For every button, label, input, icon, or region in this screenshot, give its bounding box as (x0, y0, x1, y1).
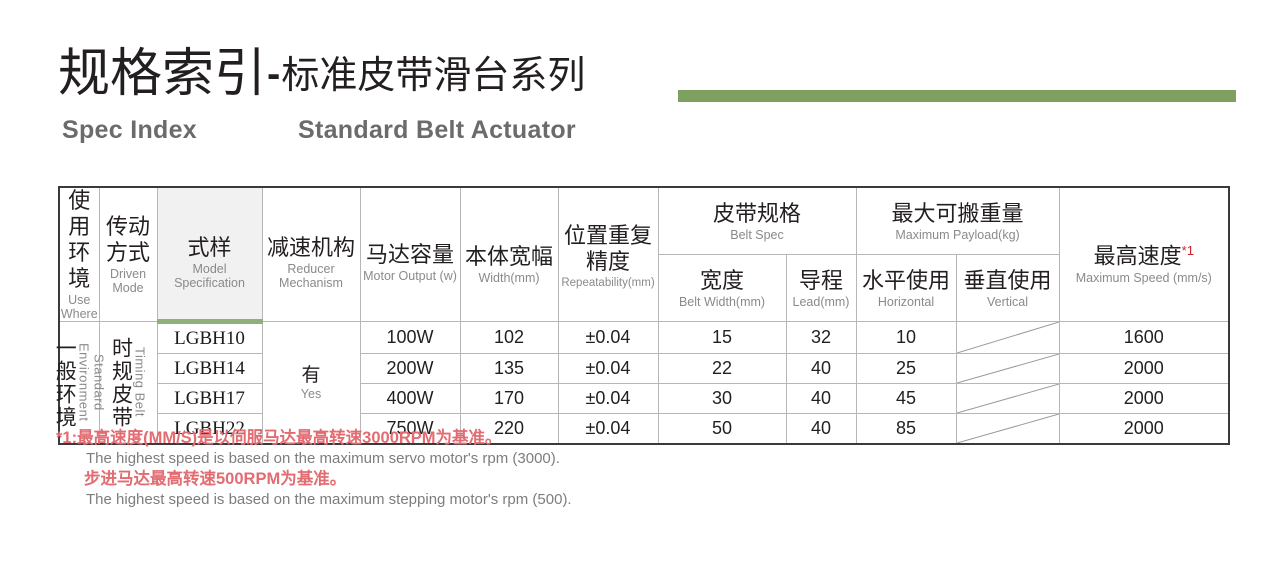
cell-width: 135 (460, 354, 558, 384)
subtitle-row: Spec Index Standard Belt Actuator (58, 116, 1238, 148)
header-belt-width-en: Belt Width(mm) (659, 295, 786, 309)
cell-horizontal: 45 (856, 384, 956, 414)
header-use-where-cn: 使用环境 (60, 188, 99, 292)
cell-max-speed: 2000 (1059, 354, 1229, 384)
spec-table: 使用环境 Use Where 传动方式 Driven Mode 式样 Model… (58, 186, 1230, 445)
header-reducer: 减速机构 Reducer Mechanism (262, 187, 360, 322)
header-repeatability: 位置重复精度 Repeatability(mm) (558, 187, 658, 322)
cell-lead: 32 (786, 322, 856, 354)
cell-model[interactable]: LGBH14 (157, 354, 262, 384)
header-belt-spec-en: Belt Spec (659, 228, 856, 242)
title-separator-dash: - (266, 46, 281, 102)
header-max-payload-group: 最大可搬重量 Maximum Payload(kg) (856, 187, 1059, 255)
header-belt-spec-cn: 皮带规格 (659, 201, 856, 227)
header-repeatability-cn: 位置重复精度 (559, 223, 658, 275)
reducer-value-cn: 有 (263, 365, 360, 387)
header-width: 本体宽幅 Width(mm) (460, 187, 558, 322)
cell-driven-mode-value: 时规皮带 Timing Belt (99, 322, 157, 445)
cell-vertical-not-applicable (956, 384, 1059, 414)
table-row: LGBH17 400W 170 ±0.04 30 40 45 2000 (59, 384, 1229, 414)
env-label-en: Standard Environment (76, 331, 106, 435)
reducer-value-en: Yes (263, 387, 360, 401)
page-subtitle-cn: 标准皮带滑台系列 (281, 50, 585, 102)
header-reducer-cn: 减速机构 (263, 235, 360, 261)
table-row: 一般环境 Standard Environment 时规皮带 Timing Be… (59, 322, 1229, 354)
header-max-payload-cn: 最大可搬重量 (857, 201, 1059, 227)
cell-lead: 40 (786, 384, 856, 414)
diagonal-slash-icon (957, 354, 1059, 383)
page-title-cn: 规格索引 (58, 46, 266, 102)
diagonal-slash-icon (957, 384, 1059, 413)
cell-lead: 40 (786, 354, 856, 384)
cell-reducer-value: 有 Yes (262, 322, 360, 445)
header-driven-mode-en: Driven Mode (100, 267, 157, 295)
header-driven-mode-cn: 传动方式 (100, 214, 157, 266)
header-max-speed-note: *1 (1182, 243, 1194, 258)
diagonal-slash-icon (957, 322, 1059, 353)
cell-repeatability: ±0.04 (558, 354, 658, 384)
header-belt-width-cn: 宽度 (659, 268, 786, 294)
page-subtitle-en: Standard Belt Actuator (298, 116, 576, 145)
header-model-spec-en: Model Specification (158, 262, 262, 290)
cell-max-speed: 2000 (1059, 384, 1229, 414)
cell-max-speed: 1600 (1059, 322, 1229, 354)
page-title-en: Spec Index (62, 116, 197, 145)
footnotes: *1:最高速度(MM/S)是以伺服马达最高转速3000RPM为基准。 The h… (56, 428, 956, 510)
header-motor-output-en: Motor Output (w) (361, 269, 460, 283)
cell-max-speed: 2000 (1059, 414, 1229, 445)
header-lead: 导程 Lead(mm) (786, 255, 856, 322)
cell-vertical-not-applicable (956, 322, 1059, 354)
cell-width: 170 (460, 384, 558, 414)
header-belt-spec-group: 皮带规格 Belt Spec (658, 187, 856, 255)
cell-horizontal: 25 (856, 354, 956, 384)
footnote-1-en: The highest speed is based on the maximu… (56, 449, 956, 469)
cell-width: 102 (460, 322, 558, 354)
header-use-where-en: Use Where (60, 293, 99, 321)
header-horizontal-cn: 水平使用 (857, 268, 956, 294)
header-lead-cn: 导程 (787, 268, 856, 294)
drive-label-cn: 时规皮带 (109, 337, 133, 429)
cell-vertical-not-applicable (956, 414, 1059, 445)
header-lead-en: Lead(mm) (787, 295, 856, 309)
header-motor-output: 马达容量 Motor Output (w) (360, 187, 460, 322)
header-max-speed: 最高速度*1 Maximum Speed (mm/s) (1059, 187, 1229, 322)
header-max-speed-cn: 最高速度 (1094, 244, 1182, 269)
header-max-speed-en: Maximum Speed (mm/s) (1060, 271, 1229, 285)
header-use-where: 使用环境 Use Where (59, 187, 99, 322)
header-vertical: 垂直使用 Vertical (956, 255, 1059, 322)
cell-motor-output: 400W (360, 384, 460, 414)
cell-horizontal: 10 (856, 322, 956, 354)
header-model-spec: 式样 Model Specification (157, 187, 262, 322)
header-width-en: Width(mm) (461, 271, 558, 285)
table-row: LGBH14 200W 135 ±0.04 22 40 25 2000 (59, 354, 1229, 384)
cell-belt-width: 15 (658, 322, 786, 354)
header-horizontal: 水平使用 Horizontal (856, 255, 956, 322)
header-width-cn: 本体宽幅 (461, 244, 558, 270)
cell-use-where-value: 一般环境 Standard Environment (59, 322, 99, 445)
footnote-1-cn: *1:最高速度(MM/S)是以伺服马达最高转速3000RPM为基准。 (56, 428, 956, 449)
drive-label-en: Timing Belt (133, 347, 148, 417)
title-accent-bar (678, 90, 1236, 102)
env-label-cn: 一般环境 (52, 337, 76, 429)
header-motor-output-cn: 马达容量 (361, 242, 460, 268)
cell-model[interactable]: LGBH17 (157, 384, 262, 414)
header-repeatability-en: Repeatability(mm) (559, 276, 658, 290)
cell-motor-output: 200W (360, 354, 460, 384)
footnote-2-cn: 步进马达最高转速500RPM为基准。 (56, 469, 956, 490)
cell-belt-width: 30 (658, 384, 786, 414)
cell-model[interactable]: LGBH10 (157, 322, 262, 354)
cell-repeatability: ±0.04 (558, 322, 658, 354)
cell-vertical-not-applicable (956, 354, 1059, 384)
table-header-row-1: 使用环境 Use Where 传动方式 Driven Mode 式样 Model… (59, 187, 1229, 255)
header-reducer-en: Reducer Mechanism (263, 262, 360, 290)
cell-belt-width: 22 (658, 354, 786, 384)
header-max-payload-en: Maximum Payload(kg) (857, 228, 1059, 242)
header-model-spec-cn: 式样 (158, 235, 262, 261)
cell-motor-output: 100W (360, 322, 460, 354)
header-driven-mode: 传动方式 Driven Mode (99, 187, 157, 322)
header-vertical-en: Vertical (957, 295, 1059, 309)
header-horizontal-en: Horizontal (857, 295, 956, 309)
header-vertical-cn: 垂直使用 (957, 268, 1059, 294)
cell-repeatability: ±0.04 (558, 384, 658, 414)
header-belt-width: 宽度 Belt Width(mm) (658, 255, 786, 322)
diagonal-slash-icon (957, 414, 1059, 443)
footnote-2-en: The highest speed is based on the maximu… (56, 490, 956, 510)
